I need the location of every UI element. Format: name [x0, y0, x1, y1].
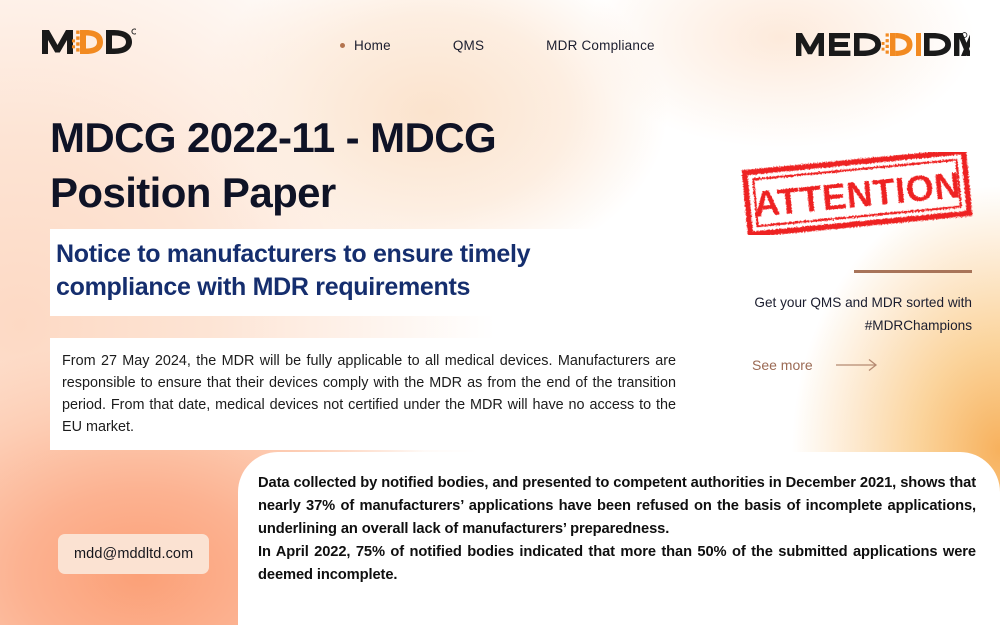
statistics-paragraph-2: In April 2022, 75% of notified bodies in… [258, 541, 976, 587]
arrow-right-icon [835, 358, 881, 372]
site-header: Home QMS MDR Compliance [0, 0, 1000, 82]
mdd-logo-mark [40, 24, 136, 58]
see-more-link[interactable]: See more [726, 357, 972, 373]
subtitle-panel: Notice to manufacturers to ensure timely… [50, 229, 676, 316]
active-dot-icon [340, 43, 345, 48]
attention-stamp-icon: ATTENTION [735, 152, 979, 235]
main-navigation: Home QMS MDR Compliance [340, 38, 655, 53]
nav-item-label: MDR Compliance [546, 38, 655, 53]
promo-divider [854, 270, 972, 273]
nav-item-home[interactable]: Home [340, 38, 391, 53]
statistics-card: Data collected by notified bodies, and p… [238, 452, 1000, 625]
meddidia-logo[interactable] [794, 28, 970, 65]
statistics-paragraph-1: Data collected by notified bodies, and p… [258, 472, 976, 541]
mdd-logo[interactable] [40, 24, 136, 60]
meddidia-logo-mark [794, 28, 970, 60]
attention-stamp: ATTENTION [735, 152, 979, 240]
intro-paragraph-text: From 27 May 2024, the MDR will be fully … [62, 350, 676, 438]
contact-email-badge[interactable]: mdd@mddltd.com [58, 534, 209, 574]
nav-item-qms[interactable]: QMS [453, 38, 484, 53]
nav-item-label: Home [354, 38, 391, 53]
promo-block: Get your QMS and MDR sorted with #MDRCha… [726, 270, 972, 373]
page-root: Home QMS MDR Compliance [0, 0, 1000, 625]
subtitle-text: Notice to manufacturers to ensure timely… [56, 238, 664, 305]
see-more-label: See more [752, 357, 813, 373]
intro-paragraph-panel: From 27 May 2024, the MDR will be fully … [50, 338, 690, 450]
page-title: MDCG 2022-11 - MDCG Position Paper [50, 110, 610, 221]
promo-text: Get your QMS and MDR sorted with #MDRCha… [726, 291, 972, 338]
nav-item-label: QMS [453, 38, 484, 53]
nav-item-mdr-compliance[interactable]: MDR Compliance [546, 38, 655, 53]
